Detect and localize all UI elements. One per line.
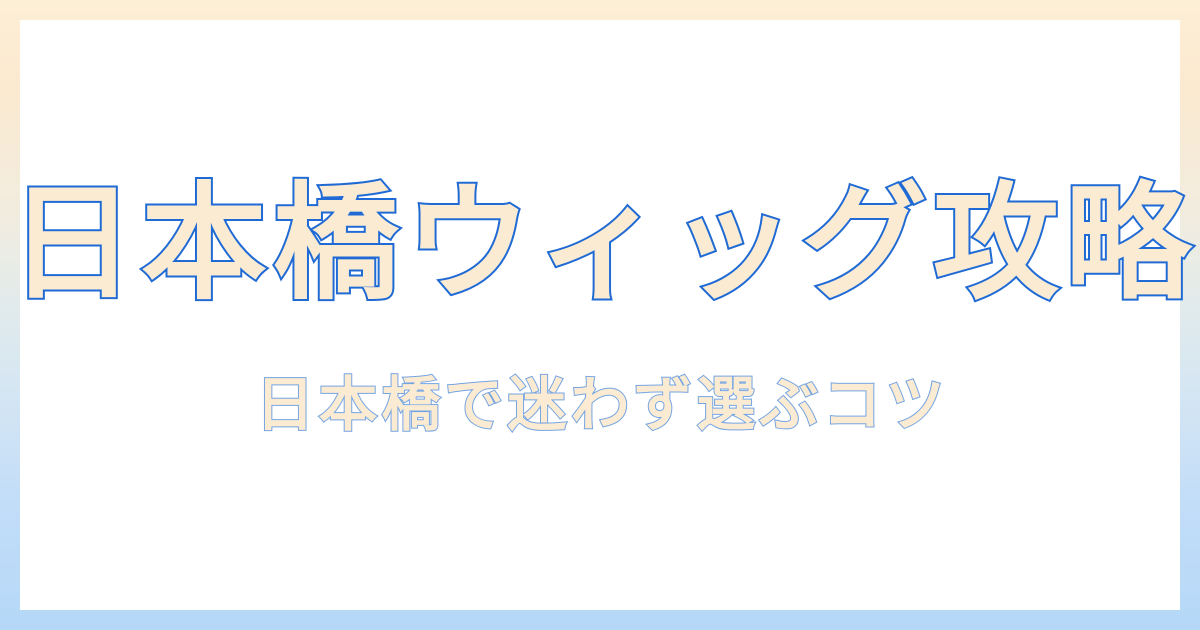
text-stack: 日本橋ウィッグ攻略 日本橋で迷わず選ぶコツ <box>20 173 1180 441</box>
content-card: 日本橋ウィッグ攻略 日本橋で迷わず選ぶコツ <box>20 20 1180 610</box>
banner-canvas: 日本橋ウィッグ攻略 日本橋で迷わず選ぶコツ <box>0 0 1200 630</box>
subheadline-text: 日本橋で迷わず選ぶコツ <box>251 370 948 441</box>
headline-title: 日本橋ウィッグ攻略 <box>3 173 1197 314</box>
